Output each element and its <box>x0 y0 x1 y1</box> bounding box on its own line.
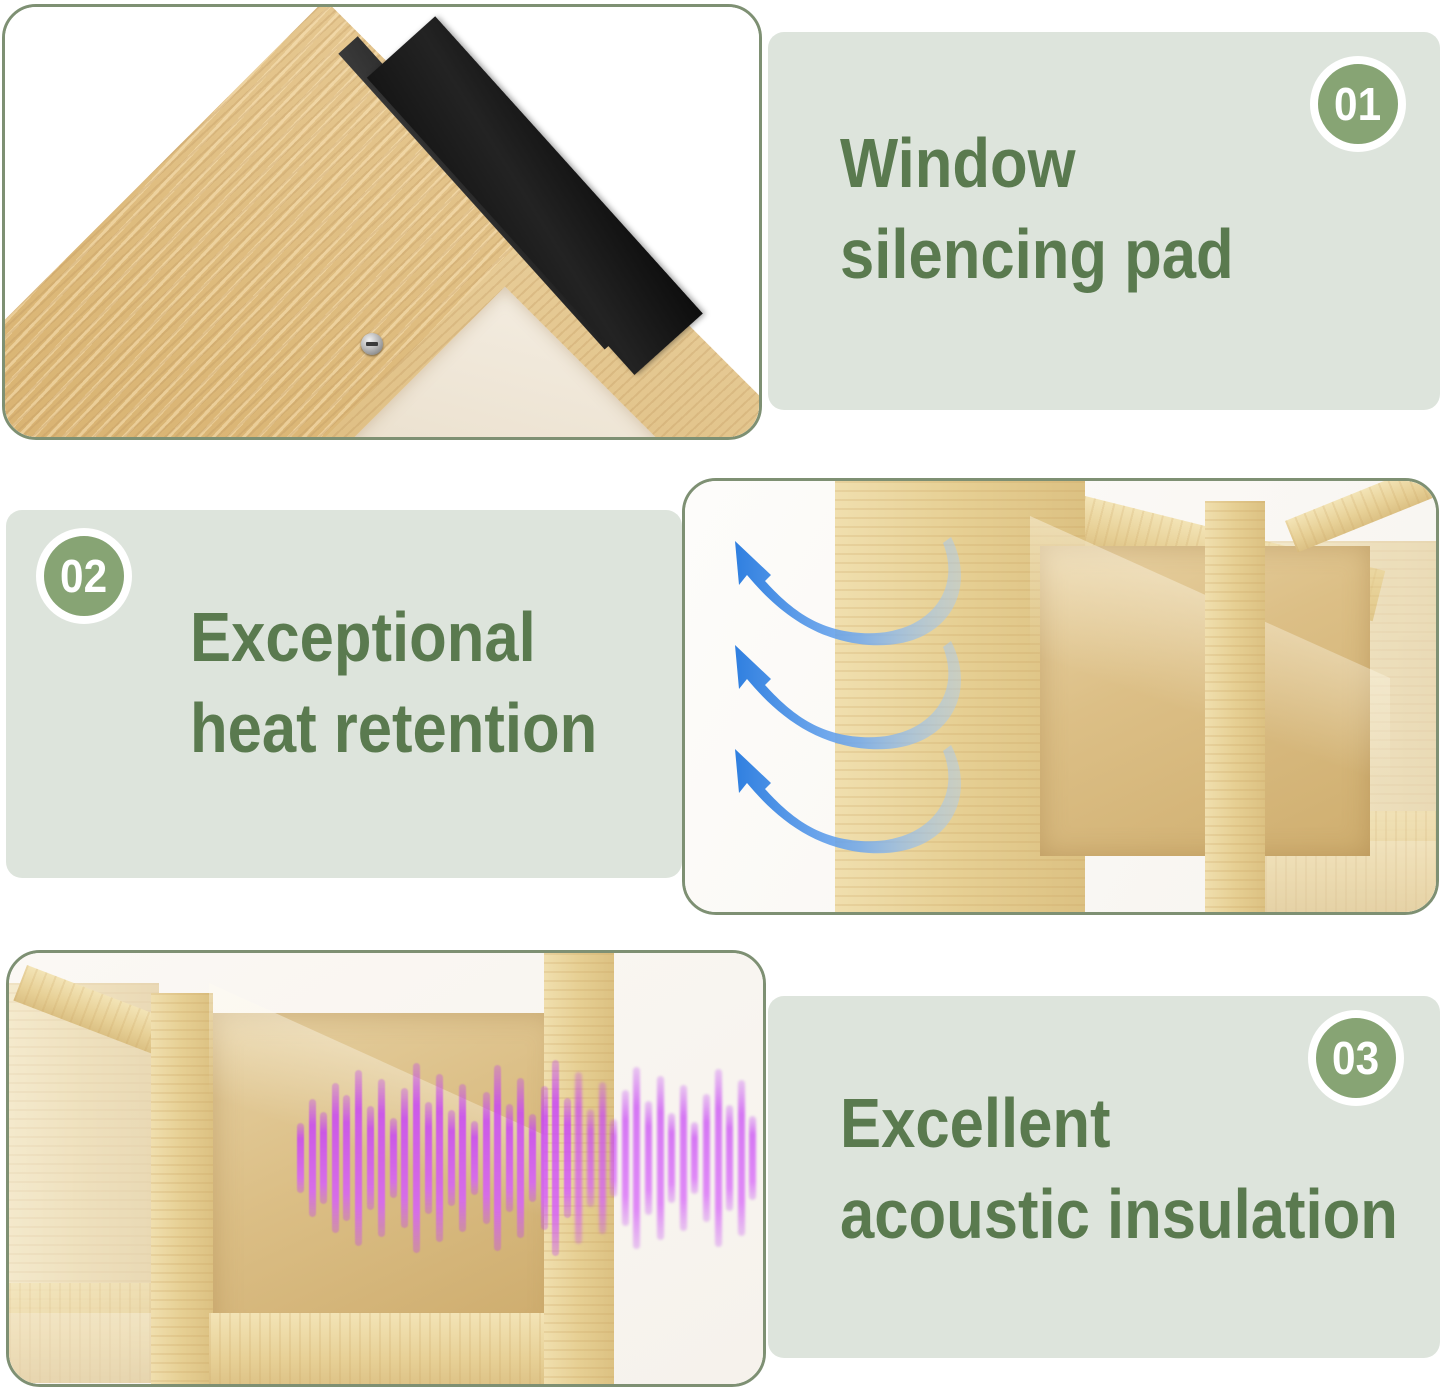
sound-wave-bar <box>401 1088 408 1228</box>
sound-wave-bar <box>343 1095 350 1221</box>
sound-wave-bar <box>517 1078 524 1238</box>
sound-wave-bar <box>506 1104 513 1212</box>
sound-wave-bar <box>552 1060 559 1256</box>
screw-icon <box>361 333 383 355</box>
feature-photo-3 <box>6 950 766 1387</box>
sound-wave-bar <box>703 1094 710 1222</box>
badge-number-3: 03 <box>1332 1035 1379 1081</box>
sound-wave-bar <box>297 1123 304 1193</box>
sound-wave-bar <box>378 1079 385 1237</box>
sound-wave-bar <box>448 1110 455 1206</box>
feature-badge-2: 02 <box>36 528 132 624</box>
sound-wave-bar <box>541 1086 548 1230</box>
sound-wave-bar <box>390 1118 397 1198</box>
headline-line-2: acoustic insulation <box>840 1175 1398 1253</box>
sound-wave-bar <box>587 1109 594 1207</box>
sound-wave-bar <box>332 1083 339 1233</box>
sound-wave-bar <box>575 1072 582 1244</box>
sound-wave-bar <box>645 1101 652 1215</box>
sound-wave-bar <box>691 1122 698 1194</box>
sound-wave-bar <box>529 1114 536 1202</box>
feature-headline-2: Exceptional heat retention <box>190 592 597 774</box>
sound-wave-bar <box>610 1119 617 1197</box>
sound-wave-bar <box>622 1090 629 1226</box>
wood-corner-post-icon <box>151 993 213 1387</box>
sound-wave-bar <box>367 1106 374 1210</box>
headline-line-1: Excellent <box>840 1084 1111 1162</box>
sound-wave-bar <box>668 1113 675 1203</box>
photo-2-scene <box>685 481 1436 912</box>
photo-1-scene <box>5 7 759 437</box>
sound-wave-bar <box>726 1105 733 1211</box>
feature-headline-1: Window silencing pad <box>840 118 1234 300</box>
sound-wave-bar <box>657 1076 664 1240</box>
sound-wave-bar <box>715 1069 722 1247</box>
heat-flow-arrow-icon-3 <box>711 737 961 863</box>
sound-wave-bar <box>413 1063 420 1253</box>
sound-wave-bar <box>749 1116 756 1200</box>
sound-wave-bar <box>459 1084 466 1232</box>
headline-line-1: Exceptional <box>190 598 536 676</box>
sound-wave-bar <box>436 1074 443 1242</box>
sound-wave-bar <box>425 1102 432 1214</box>
headline-line-2: silencing pad <box>840 215 1234 293</box>
sound-wave-bar <box>738 1080 745 1236</box>
sound-wave-bar <box>494 1065 501 1251</box>
sound-wave-bar <box>483 1092 490 1224</box>
sound-wave-bar <box>599 1082 606 1234</box>
photo-3-scene <box>9 953 763 1384</box>
headline-line-2: heat retention <box>190 689 597 767</box>
sound-wave-bar <box>680 1085 687 1231</box>
badge-number-2: 02 <box>60 553 107 599</box>
feature-headline-3: Excellent acoustic insulation <box>840 1078 1398 1260</box>
wood-corner-post-icon <box>1205 501 1265 915</box>
badge-number-1: 01 <box>1334 81 1381 127</box>
feature-photo-2 <box>682 478 1439 915</box>
feature-photo-1 <box>2 4 762 440</box>
sound-wave-bar <box>471 1121 478 1195</box>
feature-badge-1: 01 <box>1310 56 1406 152</box>
sound-wave-bar <box>320 1112 327 1204</box>
feature-badge-3: 03 <box>1308 1010 1404 1106</box>
sound-wave-bar <box>309 1099 316 1217</box>
sound-wave-bar <box>633 1067 640 1249</box>
sound-wave-bar <box>355 1070 362 1246</box>
sound-wave-bar <box>564 1098 571 1218</box>
headline-line-1: Window <box>840 124 1076 202</box>
